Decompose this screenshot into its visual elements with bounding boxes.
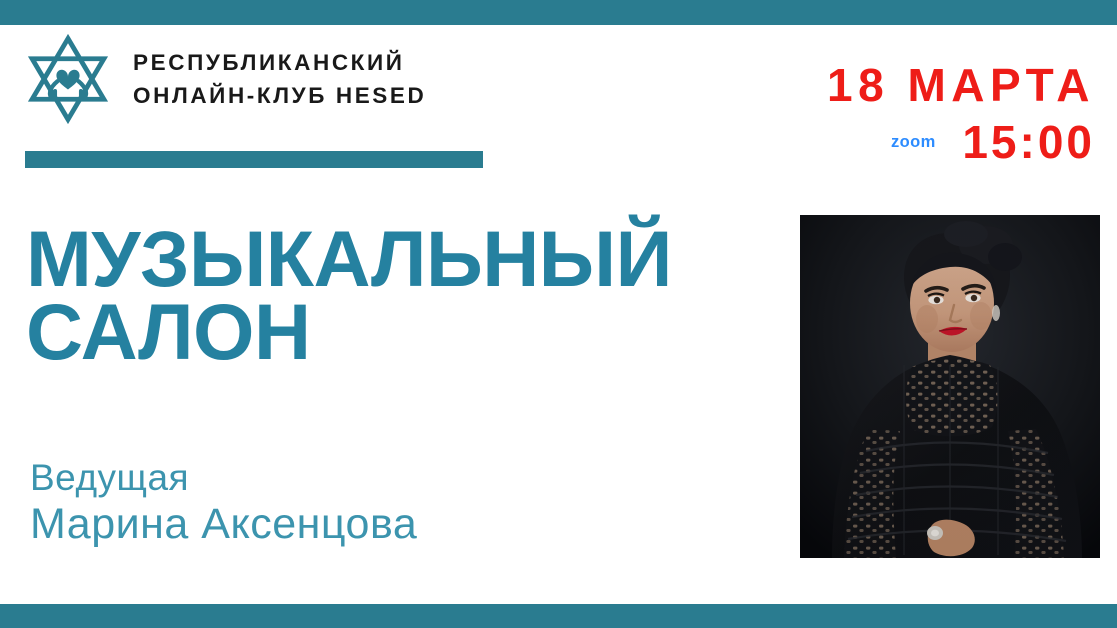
host-role-label: Ведущая	[30, 456, 417, 499]
zoom-logo: zoom	[882, 133, 944, 152]
schedule-block: 18 МАРТА zoom 15:00	[755, 62, 1095, 165]
star-of-david-heart-in-hands-icon	[22, 33, 114, 125]
event-poster: РЕСПУБЛИКАНСКИЙ ОНЛАЙН-КЛУБ HESED 18 МАР…	[0, 0, 1117, 628]
event-date: 18 МАРТА	[755, 62, 1095, 108]
bottom-accent-band	[0, 604, 1117, 628]
page-title-line-2: САЛОН	[26, 295, 672, 368]
top-accent-band	[0, 0, 1117, 25]
page-title-line-1: МУЗЫКАЛЬНЫЙ	[26, 222, 672, 295]
brand-line-2: ОНЛАЙН-КЛУБ HESED	[133, 79, 426, 112]
event-time: 15:00	[962, 119, 1095, 165]
host-portrait-photo	[800, 215, 1100, 558]
host-credit: Ведущая Марина Аксенцова	[30, 456, 417, 550]
host-name: Марина Аксенцова	[30, 499, 417, 549]
brand-block: РЕСПУБЛИКАНСКИЙ ОНЛАЙН-КЛУБ HESED	[22, 33, 426, 125]
brand-underline-rule	[25, 151, 483, 168]
platform-and-time-row: zoom 15:00	[755, 119, 1095, 165]
brand-line-1: РЕСПУБЛИКАНСКИЙ	[133, 46, 426, 79]
brand-name: РЕСПУБЛИКАНСКИЙ ОНЛАЙН-КЛУБ HESED	[133, 46, 426, 112]
page-title: МУЗЫКАЛЬНЫЙ САЛОН	[26, 222, 672, 369]
